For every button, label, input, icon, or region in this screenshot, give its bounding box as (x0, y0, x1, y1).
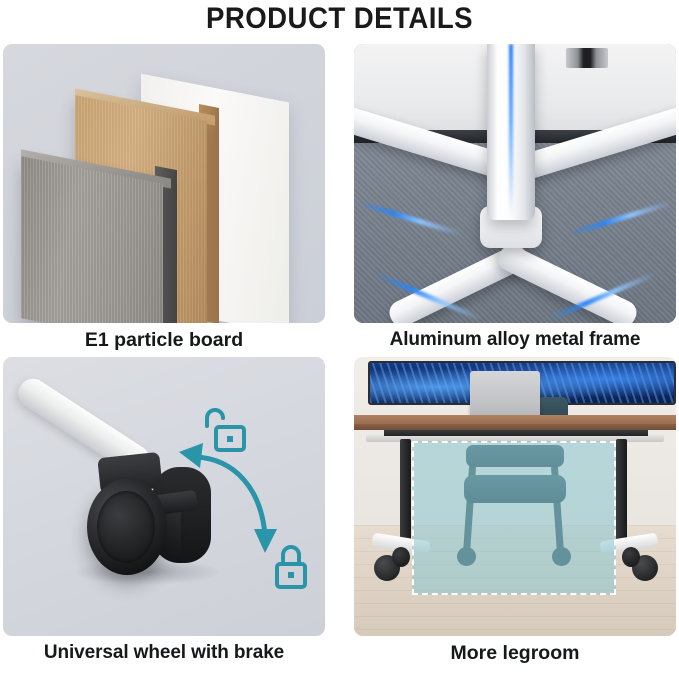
board-gray (21, 156, 163, 323)
page-title: PRODUCT DETAILS (27, 0, 652, 40)
curved-double-arrow-icon (196, 457, 265, 535)
image-universal-wheel (3, 357, 325, 636)
image-particle-board (3, 44, 325, 323)
product-detail-grid: E1 particle board Aluminum alloy metal f… (3, 44, 676, 670)
detail-cell-metal-frame: Aluminum alloy metal frame (354, 44, 676, 357)
detail-cell-more-legroom: More legroom (354, 357, 676, 670)
unlock-icon (207, 410, 244, 450)
desk-leg-left (400, 439, 411, 541)
metal-clamp (566, 48, 608, 68)
blue-glow-column (509, 44, 513, 216)
laptop (470, 371, 540, 421)
caption-particle-board: E1 particle board (3, 325, 325, 357)
desk-caster-right-rear (622, 547, 640, 567)
image-metal-frame (354, 44, 676, 323)
desktop-surface (354, 415, 676, 424)
detail-cell-universal-wheel: Universal wheel with brake (3, 357, 325, 670)
arrow-head-down (254, 529, 277, 553)
desk-caster-left-rear (392, 547, 410, 567)
lock-indicator-group (3, 357, 325, 636)
desk-crossbar (384, 430, 648, 436)
legroom-dashed-outline (412, 441, 616, 595)
caption-universal-wheel: Universal wheel with brake (3, 638, 325, 670)
caption-more-legroom: More legroom (354, 638, 676, 670)
desk-leg-right (616, 439, 627, 541)
image-more-legroom (354, 357, 676, 636)
arrow-head-up (179, 443, 203, 468)
caption-metal-frame: Aluminum alloy metal frame (354, 325, 676, 357)
detail-cell-particle-board: E1 particle board (3, 44, 325, 357)
lock-icon (277, 547, 305, 587)
